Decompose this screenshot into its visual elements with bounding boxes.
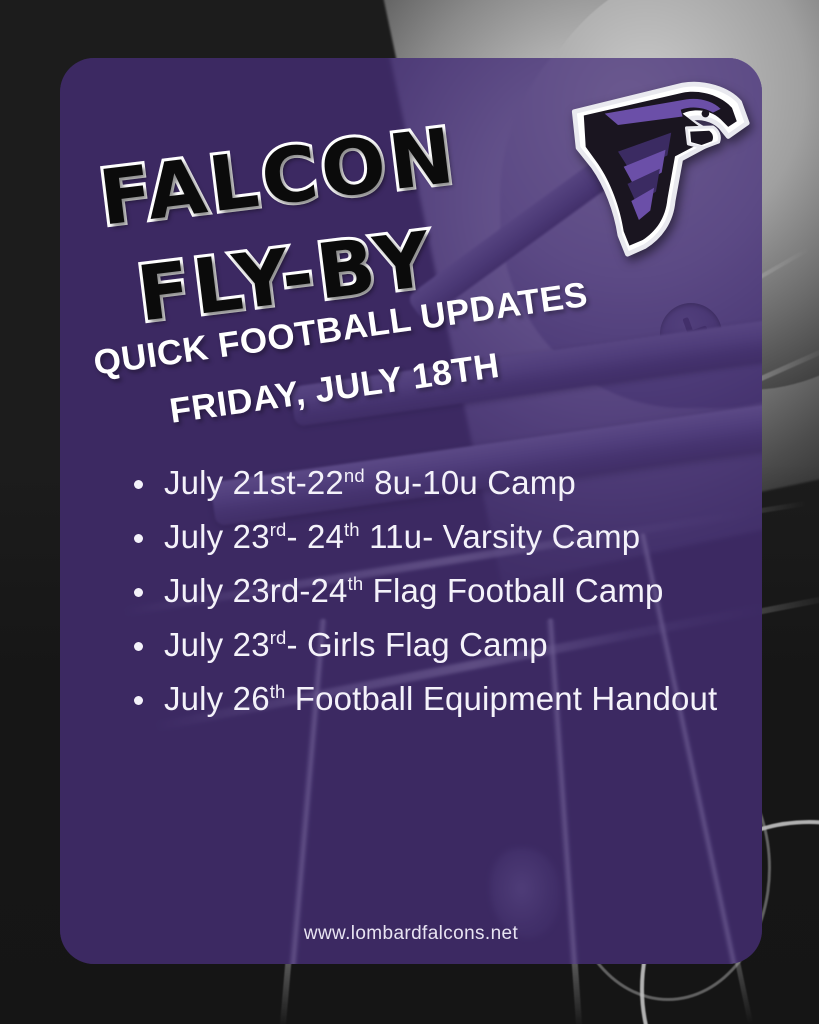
ordinal-suffix: rd xyxy=(270,519,287,540)
ordinal-suffix: th xyxy=(270,681,286,702)
purple-content-card: FALCON FLY-BY QUICK FOOTBALL UPDATES FRI… xyxy=(60,58,762,964)
bullet-text-0: July 21st-22nd 8u-10u Camp xyxy=(164,464,576,501)
card-content: FALCON FLY-BY QUICK FOOTBALL UPDATES FRI… xyxy=(60,58,762,964)
ordinal-suffix: th xyxy=(344,519,360,540)
ordinal-suffix: rd xyxy=(270,627,287,648)
ordinal-suffix: th xyxy=(348,573,364,594)
bullet-text-1: July 23rd- 24th 11u- Varsity Camp xyxy=(164,518,640,555)
bullet-text-4: July 26th Football Equipment Handout xyxy=(164,680,717,717)
list-item: July 23rd- Girls Flag Camp xyxy=(90,618,750,672)
bullet-text-3: July 23rd- Girls Flag Camp xyxy=(164,626,548,663)
poster-canvas: FALCON FLY-BY QUICK FOOTBALL UPDATES FRI… xyxy=(0,0,819,1024)
list-item: July 23rd- 24th 11u- Varsity Camp xyxy=(90,510,750,564)
bullet-text-2: July 23rd-24th Flag Football Camp xyxy=(164,572,664,609)
footer-url[interactable]: www.lombardfalcons.net xyxy=(60,923,762,945)
announcement-list: July 21st-22nd 8u-10u Camp July 23rd- 24… xyxy=(90,456,750,726)
falcon-logo-icon xyxy=(557,68,755,258)
list-item: July 26th Football Equipment Handout xyxy=(90,672,750,726)
list-item: July 23rd-24th Flag Football Camp xyxy=(90,564,750,618)
ordinal-suffix: nd xyxy=(344,465,365,486)
list-item: July 21st-22nd 8u-10u Camp xyxy=(90,456,750,510)
